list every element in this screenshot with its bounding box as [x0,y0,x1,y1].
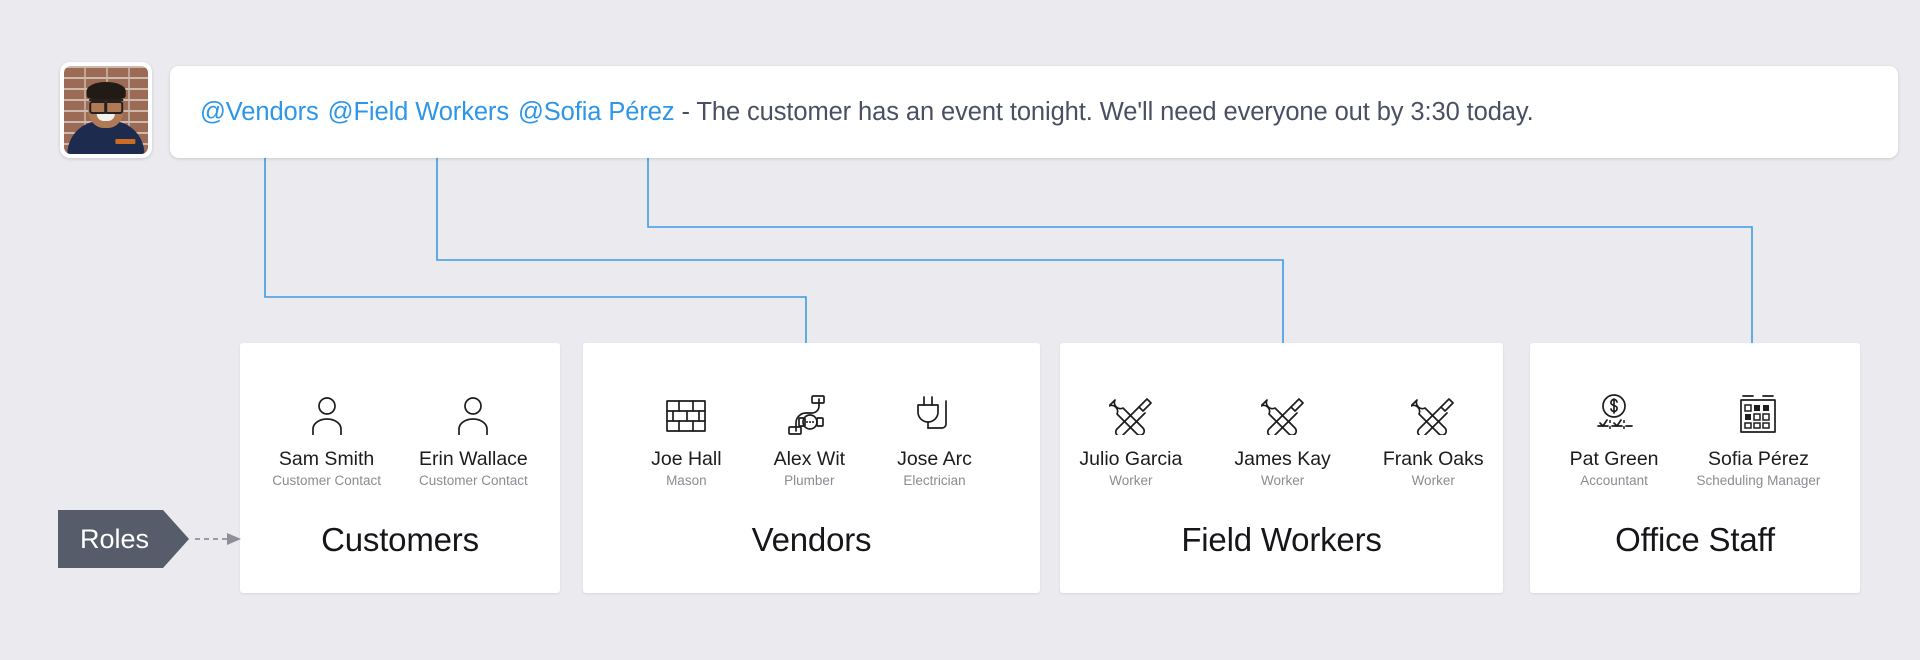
person-name: Frank Oaks [1383,449,1484,471]
person-entry[interactable]: Pat GreenAccountant [1570,391,1659,488]
person-name: Sam Smith [279,449,374,471]
dashed-arrow-icon [195,532,243,546]
calendar-schedule-icon [1737,391,1779,435]
people-row: Julio GarciaWorkerJames KayWorkerFrank O… [1060,391,1503,488]
person-name: Joe Hall [651,449,721,471]
person-entry[interactable]: Julio GarciaWorker [1079,391,1182,488]
person-name: Alex Wit [774,449,846,471]
person-role: Mason [666,473,707,488]
person-role: Scheduling Manager [1697,473,1821,488]
person-entry[interactable]: Jose ArcElectrician [897,391,972,488]
person-name: Sofia Pérez [1708,449,1809,471]
avatar-hair [87,82,126,100]
person-entry[interactable]: James KayWorker [1234,391,1330,488]
person-entry[interactable]: Sofia PérezScheduling Manager [1697,391,1821,488]
avatar-shirt-logo [116,139,136,144]
wrench-hammer-icon [1109,391,1153,435]
person-entry[interactable]: Erin WallaceCustomer Contact [419,391,528,488]
brick-wall-icon [665,391,707,435]
person-name: Erin Wallace [419,449,528,471]
person-entry[interactable]: Sam SmithCustomer Contact [272,391,381,488]
people-row: Sam SmithCustomer ContactErin WallaceCus… [240,391,560,488]
person-role: Electrician [903,473,965,488]
person-icon [456,391,490,435]
avatar [60,62,152,158]
person-role: Worker [1261,473,1304,488]
people-row: Joe HallMasonAlex WitPlumberJose ArcElec… [583,391,1040,488]
wrench-hammer-icon [1411,391,1455,435]
card-title: Customers [321,521,479,559]
power-plug-icon [914,391,954,435]
avatar-glasses-icon [89,99,123,108]
person-name: Julio Garcia [1079,449,1182,471]
person-name: Pat Green [1570,449,1659,471]
role-card[interactable]: Sam SmithCustomer ContactErin WallaceCus… [240,343,560,593]
person-name: James Kay [1234,449,1330,471]
person-role: Customer Contact [272,473,381,488]
role-card[interactable]: Pat GreenAccountantSofia PérezScheduling… [1530,343,1860,593]
people-row: Pat GreenAccountantSofia PérezScheduling… [1530,391,1860,488]
message-body: - The customer has an event tonight. We'… [674,98,1533,126]
mention-field-workers[interactable]: @Field Workers [328,98,509,126]
pipe-valve-icon [786,391,832,435]
person-icon [310,391,344,435]
role-card[interactable]: Joe HallMasonAlex WitPlumberJose ArcElec… [583,343,1040,593]
person-entry[interactable]: Alex WitPlumber [774,391,846,488]
person-role: Worker [1412,473,1455,488]
person-name: Jose Arc [897,449,972,471]
role-card[interactable]: Julio GarciaWorkerJames KayWorkerFrank O… [1060,343,1503,593]
person-entry[interactable]: Frank OaksWorker [1383,391,1484,488]
person-role: Accountant [1580,473,1648,488]
wrench-hammer-icon [1261,391,1305,435]
card-title: Office Staff [1615,521,1775,559]
roles-chip[interactable]: Roles [58,510,189,568]
roles-legend: Roles [58,510,243,568]
person-role: Worker [1109,473,1152,488]
card-title: Field Workers [1181,521,1381,559]
mention-vendors[interactable]: @Vendors [200,98,319,126]
message-bar[interactable]: @Vendors@Field Workers@Sofia Pérez - The… [170,66,1898,158]
person-role: Plumber [784,473,834,488]
card-title: Vendors [752,521,872,559]
avatar-photo [64,66,148,154]
accounting-coin-icon [1592,391,1636,435]
mention-sofia-perez[interactable]: @Sofia Pérez [518,98,675,126]
person-role: Customer Contact [419,473,528,488]
message-text: @Vendors@Field Workers@Sofia Pérez - The… [200,98,1534,127]
person-entry[interactable]: Joe HallMason [651,391,721,488]
